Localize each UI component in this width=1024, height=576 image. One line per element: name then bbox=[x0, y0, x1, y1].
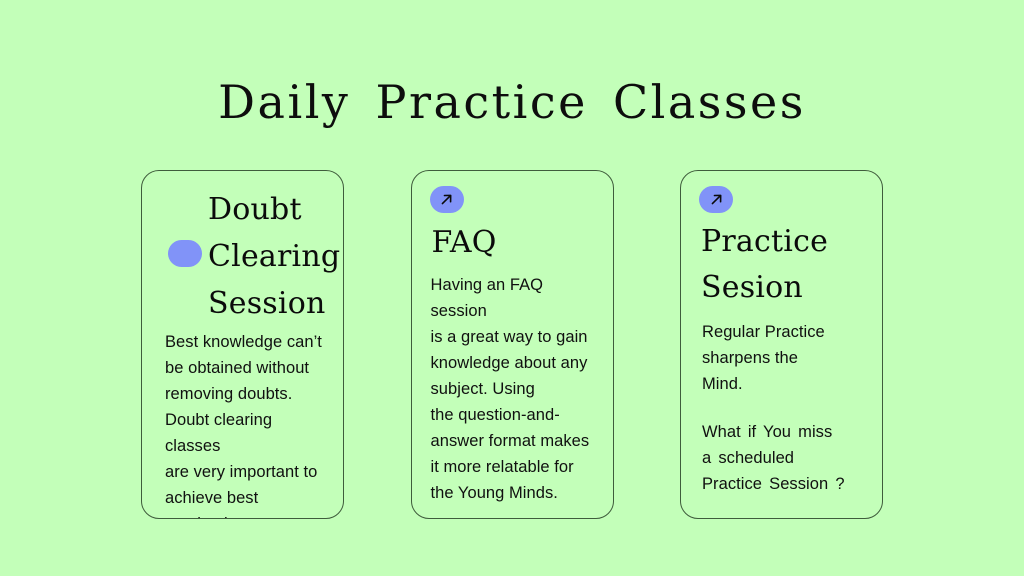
card-3-heading: Practice Sesion bbox=[695, 219, 868, 311]
card-3-body-text-primary: Regular Practice sharpens the Mind. bbox=[695, 319, 868, 397]
arrow-up-right-icon[interactable] bbox=[430, 186, 464, 213]
card-practice-session[interactable]: Practice Sesion Regular Practice sharpen… bbox=[680, 170, 883, 519]
card-doubt-clearing-session[interactable]: Doubt Clearing Session Best knowledge ca… bbox=[141, 170, 344, 519]
card-1-header: Doubt Clearing Session bbox=[156, 184, 329, 327]
card-1-body-text: Best knowledge can’t be obtained without… bbox=[156, 327, 329, 519]
card-3-body-text-secondary: What if You miss a scheduled Practice Se… bbox=[695, 419, 868, 497]
page-title: Daily Practice Classes bbox=[0, 76, 1024, 129]
arrow-up-right-icon[interactable] bbox=[699, 186, 733, 213]
pill-badge-icon bbox=[168, 240, 202, 267]
card-row: Doubt Clearing Session Best knowledge ca… bbox=[141, 170, 883, 520]
slide-canvas: Daily Practice Classes Doubt Clearing Se… bbox=[0, 0, 1024, 576]
card-2-heading: FAQ bbox=[426, 219, 599, 266]
card-faq[interactable]: FAQ Having an FAQ session is a great way… bbox=[411, 170, 614, 519]
card-2-body-text: Having an FAQ session is a great way to … bbox=[426, 272, 599, 506]
